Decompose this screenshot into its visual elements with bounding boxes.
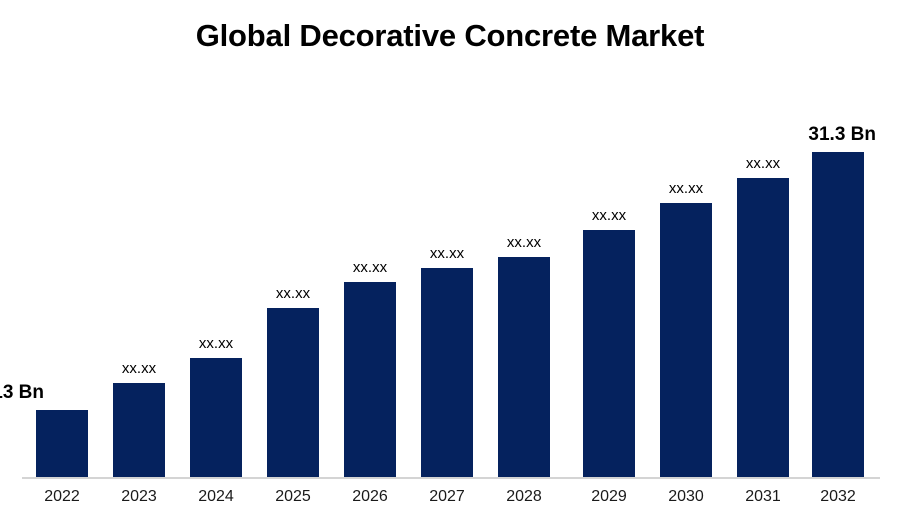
bar-2025[interactable] [267,308,319,477]
x-tick-label-2028: 2028 [498,488,550,506]
x-tick-label-2026: 2026 [344,488,396,506]
x-axis-baseline [22,477,880,479]
x-tick-label-2031: 2031 [737,488,789,506]
bar-value-label-2031: xx.xx [746,155,780,172]
bar-2029[interactable] [583,230,635,477]
bar-2032[interactable] [812,152,864,477]
bar-value-label-2022: 17.13 Bn [0,382,44,404]
bar-2027[interactable] [421,268,473,477]
bar-2022[interactable] [36,410,88,477]
bar-value-label-2028: xx.xx [507,234,541,251]
bar-2026[interactable] [344,282,396,477]
plot-area: 17.13 Bnxx.xxxx.xxxx.xxxx.xxxx.xxxx.xxxx… [0,0,900,525]
x-tick-label-2024: 2024 [190,488,242,506]
bar-value-label-2027: xx.xx [430,245,464,262]
bar-2031[interactable] [737,178,789,477]
bar-2030[interactable] [660,203,712,477]
x-tick-label-2032: 2032 [812,488,864,506]
bar-value-label-2032: 31.3 Bn [808,124,876,146]
bar-value-label-2025: xx.xx [276,285,310,302]
x-tick-label-2030: 2030 [660,488,712,506]
bar-2023[interactable] [113,383,165,477]
bar-2024[interactable] [190,358,242,477]
bar-value-label-2026: xx.xx [353,259,387,276]
bar-value-label-2029: xx.xx [592,207,626,224]
bar-value-label-2024: xx.xx [199,335,233,352]
bar-value-label-2030: xx.xx [669,180,703,197]
x-tick-label-2022: 2022 [36,488,88,506]
x-tick-label-2025: 2025 [267,488,319,506]
chart-container: Global Decorative Concrete Market 17.13 … [0,0,900,525]
bar-value-label-2023: xx.xx [122,360,156,377]
x-tick-label-2027: 2027 [421,488,473,506]
x-tick-label-2029: 2029 [583,488,635,506]
bar-2028[interactable] [498,257,550,477]
x-tick-label-2023: 2023 [113,488,165,506]
